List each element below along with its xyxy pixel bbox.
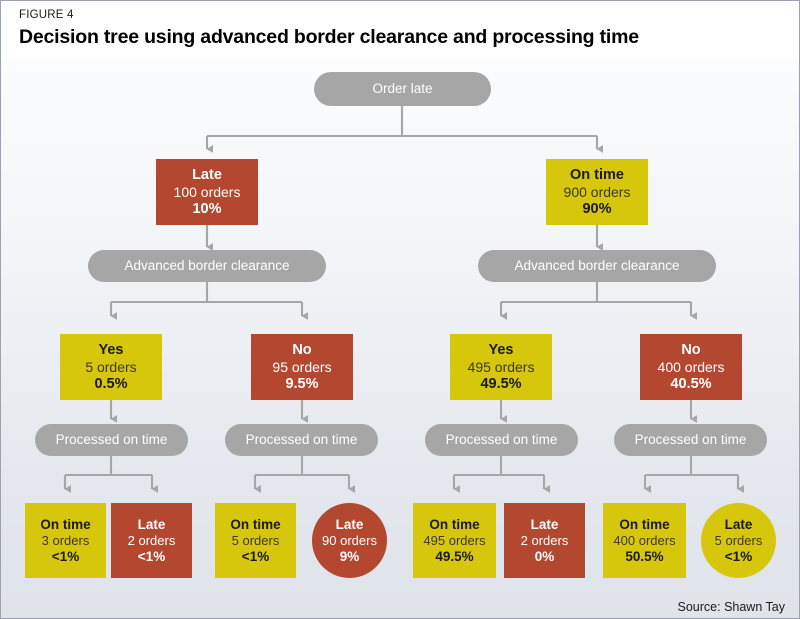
node-percent: 49.5% bbox=[480, 376, 521, 393]
node-orders: 495 orders bbox=[468, 359, 535, 376]
tree-leaf-1[interactable]: On time 3 orders <1% bbox=[25, 503, 106, 578]
tree-decision-advanced-border-clearance-left[interactable]: Advanced border clearance bbox=[88, 250, 326, 282]
node-title: Yes bbox=[99, 342, 124, 359]
tree-leaf-2[interactable]: Late 2 orders <1% bbox=[111, 503, 192, 578]
node-label: Processed on time bbox=[635, 432, 747, 448]
node-title: No bbox=[292, 342, 311, 359]
node-percent: 0.5% bbox=[94, 376, 127, 393]
node-title: On time bbox=[230, 517, 280, 533]
node-title: On time bbox=[619, 517, 669, 533]
tree-node-root[interactable]: Order late bbox=[314, 72, 491, 106]
tree-node-late[interactable]: Late 100 orders 10% bbox=[156, 159, 258, 225]
node-title: Late bbox=[531, 517, 559, 533]
node-orders: 900 orders bbox=[564, 184, 631, 201]
node-percent: <1% bbox=[52, 549, 79, 565]
node-percent: <1% bbox=[138, 549, 165, 565]
tree-node-yes-left[interactable]: Yes 5 orders 0.5% bbox=[60, 334, 162, 400]
tree-leaf-4[interactable]: Late 90 orders 9% bbox=[312, 503, 387, 578]
tree-decision-processed-on-time-3[interactable]: Processed on time bbox=[425, 424, 578, 456]
tree-leaf-3[interactable]: On time 5 orders <1% bbox=[215, 503, 296, 578]
node-orders: 2 orders bbox=[521, 533, 569, 549]
node-orders: 400 orders bbox=[613, 533, 675, 549]
tree-leaf-6[interactable]: Late 2 orders 0% bbox=[504, 503, 585, 578]
node-percent: 9% bbox=[340, 549, 360, 565]
node-orders: 495 orders bbox=[423, 533, 485, 549]
node-orders: 2 orders bbox=[128, 533, 176, 549]
node-orders: 100 orders bbox=[174, 184, 241, 201]
node-orders: 5 orders bbox=[715, 533, 763, 549]
node-percent: 40.5% bbox=[670, 376, 711, 393]
figure-container: FIGURE 4 Decision tree using advanced bo… bbox=[0, 0, 800, 619]
tree-node-no-left[interactable]: No 95 orders 9.5% bbox=[251, 334, 353, 400]
node-percent: <1% bbox=[242, 549, 269, 565]
tree-leaf-5[interactable]: On time 495 orders 49.5% bbox=[413, 503, 496, 578]
tree-decision-processed-on-time-1[interactable]: Processed on time bbox=[35, 424, 188, 456]
figure-number-label: FIGURE 4 bbox=[19, 8, 800, 22]
node-orders: 5 orders bbox=[232, 533, 280, 549]
figure-header: FIGURE 4 Decision tree using advanced bo… bbox=[1, 1, 800, 59]
node-title: Late bbox=[138, 517, 166, 533]
node-orders: 5 orders bbox=[85, 359, 136, 376]
node-percent: 50.5% bbox=[625, 549, 663, 565]
node-label: Processed on time bbox=[246, 432, 358, 448]
node-title: Late bbox=[336, 517, 364, 533]
tree-node-on-time[interactable]: On time 900 orders 90% bbox=[546, 159, 648, 225]
node-title: On time bbox=[429, 517, 479, 533]
tree-decision-advanced-border-clearance-right[interactable]: Advanced border clearance bbox=[478, 250, 716, 282]
node-title: No bbox=[681, 342, 700, 359]
node-percent: 9.5% bbox=[285, 376, 318, 393]
node-label: Advanced border clearance bbox=[514, 258, 679, 274]
node-label: Order late bbox=[372, 81, 432, 97]
tree-decision-processed-on-time-2[interactable]: Processed on time bbox=[225, 424, 378, 456]
node-label: Processed on time bbox=[446, 432, 558, 448]
node-percent: 0% bbox=[535, 549, 555, 565]
node-percent: <1% bbox=[725, 549, 752, 565]
node-label: Processed on time bbox=[56, 432, 168, 448]
tree-node-no-right[interactable]: No 400 orders 40.5% bbox=[640, 334, 742, 400]
node-percent: 49.5% bbox=[435, 549, 473, 565]
node-orders: 400 orders bbox=[658, 359, 725, 376]
node-orders: 95 orders bbox=[272, 359, 331, 376]
page-title: Decision tree using advanced border clea… bbox=[19, 24, 800, 50]
tree-decision-processed-on-time-4[interactable]: Processed on time bbox=[614, 424, 767, 456]
tree-node-yes-right[interactable]: Yes 495 orders 49.5% bbox=[450, 334, 552, 400]
tree-leaf-7[interactable]: On time 400 orders 50.5% bbox=[603, 503, 686, 578]
node-percent: 90% bbox=[582, 201, 611, 218]
node-orders: 3 orders bbox=[42, 533, 90, 549]
tree-leaf-8[interactable]: Late 5 orders <1% bbox=[701, 503, 776, 578]
decision-tree-canvas: Order late Late 100 orders 10% On time 9… bbox=[1, 59, 799, 618]
node-title: Yes bbox=[489, 342, 514, 359]
node-title: On time bbox=[570, 167, 624, 184]
source-attribution: Source: Shawn Tay bbox=[678, 600, 785, 614]
node-percent: 10% bbox=[192, 201, 221, 218]
node-title: Late bbox=[725, 517, 753, 533]
node-label: Advanced border clearance bbox=[124, 258, 289, 274]
node-title: On time bbox=[40, 517, 90, 533]
node-orders: 90 orders bbox=[322, 533, 377, 549]
node-title: Late bbox=[192, 167, 222, 184]
